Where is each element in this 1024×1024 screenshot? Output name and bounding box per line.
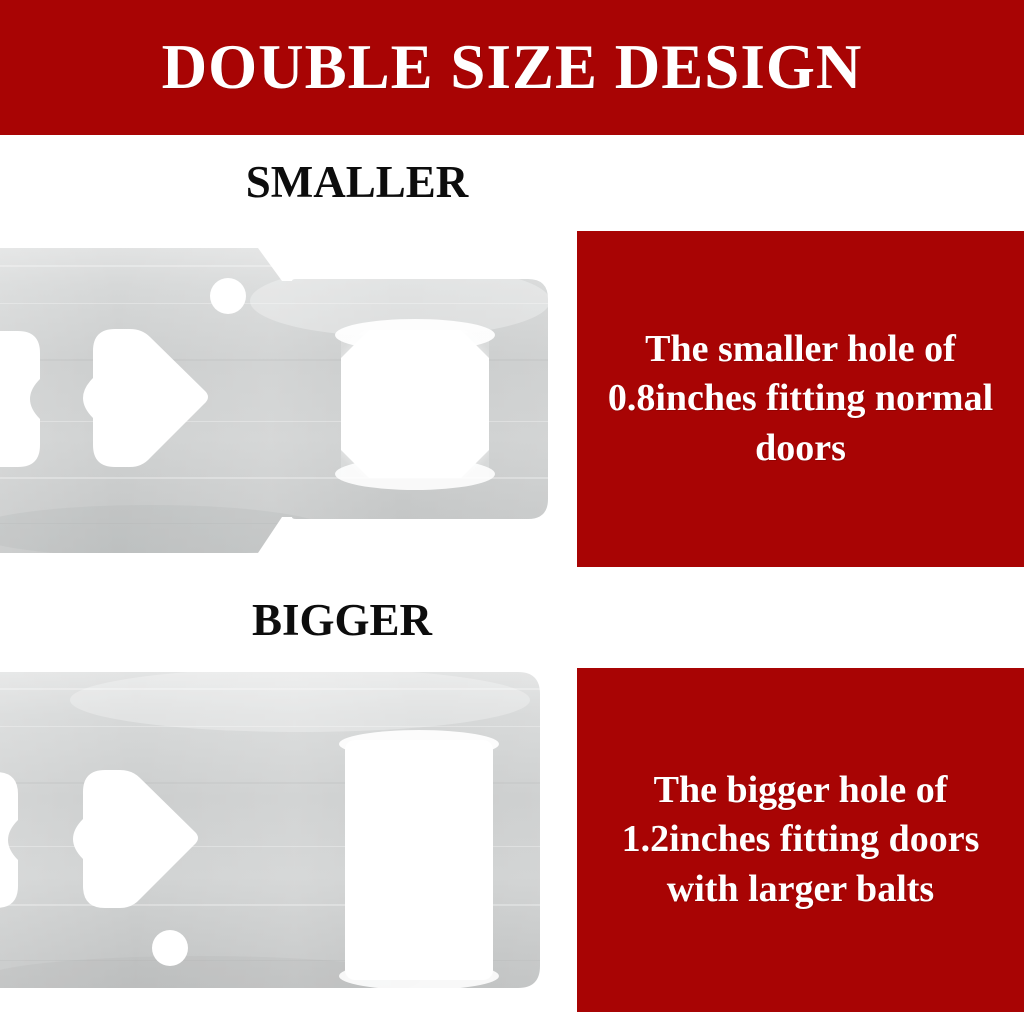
section-label-smaller: SMALLER [0, 160, 1024, 205]
infographic-page: DOUBLE SIZE DESIGN SMALLER [0, 0, 1024, 1024]
caption-panel-bigger: The bigger hole of 1.2inches fitting doo… [577, 668, 1024, 1012]
caption-text-bigger: The bigger hole of 1.2inches fitting doo… [591, 766, 1010, 914]
strike-plate-smaller-illustration [0, 231, 577, 567]
caption-text-smaller: The smaller hole of 0.8inches fitting no… [591, 325, 1010, 473]
section-label-bigger: BIGGER [0, 598, 1024, 643]
page-title: DOUBLE SIZE DESIGN [162, 36, 863, 99]
smaller-bolt-hole-glow [335, 319, 495, 490]
product-photo-bigger [0, 660, 577, 1024]
header-banner: DOUBLE SIZE DESIGN [0, 0, 1024, 135]
caption-panel-smaller: The smaller hole of 0.8inches fitting no… [577, 231, 1024, 567]
bigger-bolt-hole-glow [339, 730, 499, 990]
strike-plate-bigger-illustration [0, 660, 577, 1024]
product-photo-smaller [0, 231, 577, 567]
